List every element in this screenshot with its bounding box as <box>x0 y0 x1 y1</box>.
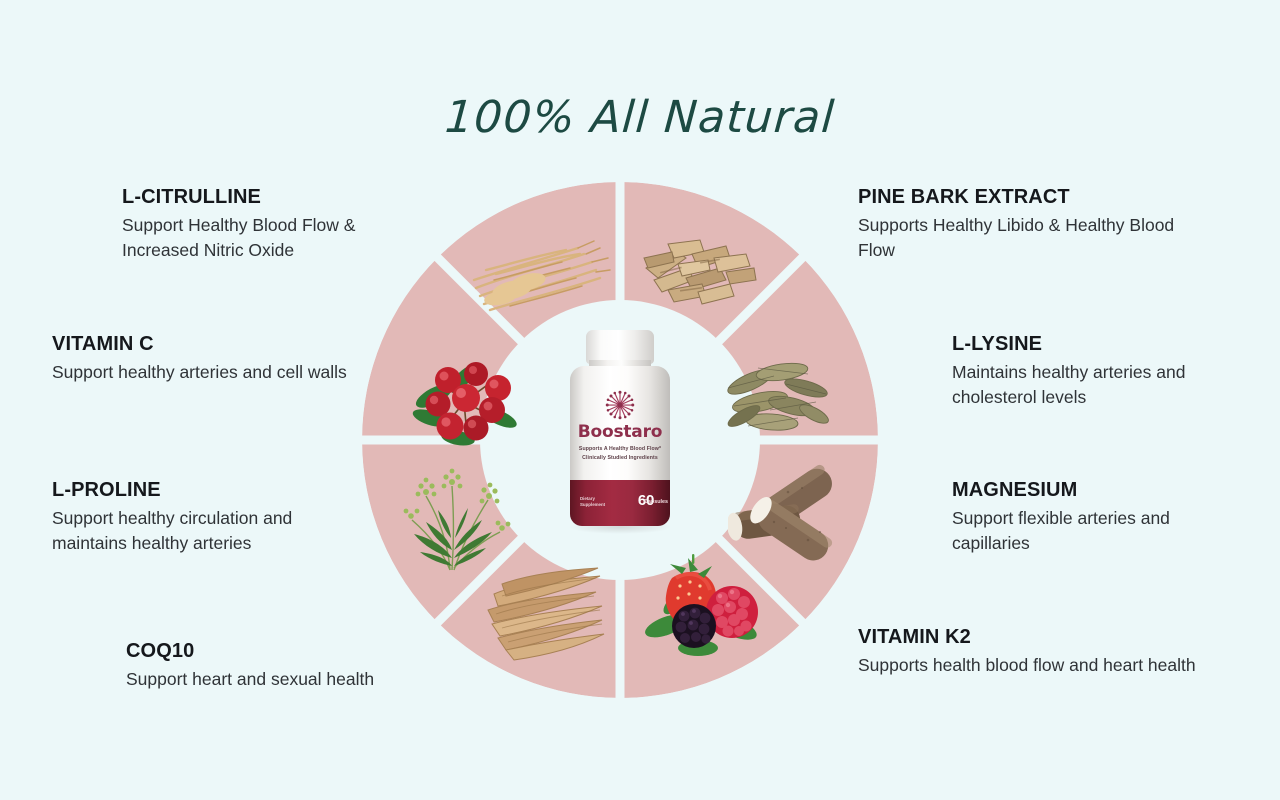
ingredient-description: Maintains healthy arteries and cholester… <box>952 360 1252 410</box>
infographic-canvas: 100% All Natural <box>0 0 1280 800</box>
bottle-label-band: Dietary Supplement 60 Capsules <box>570 480 670 526</box>
ingredient-title: COQ10 <box>126 640 456 662</box>
page-title: 100% All Natural <box>0 92 1280 143</box>
bottle-brand-name: Boostaro <box>570 422 670 442</box>
ingredient-title: VITAMIN C <box>52 333 352 355</box>
bottle-supplement-label-line2: Supplement <box>580 502 605 508</box>
ingredient-description: Supports health blood flow and heart hea… <box>858 653 1208 678</box>
ingredient-description: Support flexible arteries and capillarie… <box>952 506 1242 556</box>
ingredient-description: Support Healthy Blood Flow & Increased N… <box>122 213 432 263</box>
ingredient-block-l-lysine: L-LYSINE Maintains healthy arteries and … <box>952 333 1252 410</box>
ingredient-block-coq10: COQ10 Support heart and sexual health <box>126 640 456 692</box>
ingredient-title: PINE BARK EXTRACT <box>858 186 1188 208</box>
bottle-capsule-unit: Capsules <box>644 499 668 505</box>
ingredient-description: Supports Healthy Libido & Healthy Blood … <box>858 213 1188 263</box>
bottle-cap <box>586 330 654 364</box>
ingredient-description: Support healthy circulation and maintain… <box>52 506 362 556</box>
bottle-supplement-label: Dietary Supplement <box>580 496 605 508</box>
ingredient-description: Support heart and sexual health <box>126 667 456 692</box>
ingredient-title: L-CITRULLINE <box>122 186 432 208</box>
bottle-tagline-2: Clinically Studied Ingredients <box>570 455 670 461</box>
bottle-body: Boostaro Supports A Healthy Blood Flow* … <box>570 366 670 526</box>
ingredient-title: VITAMIN K2 <box>858 626 1208 648</box>
ingredient-description: Support healthy arteries and cell walls <box>52 360 352 385</box>
boostaro-logo-icon <box>605 390 635 420</box>
ingredient-title: MAGNESIUM <box>952 479 1242 501</box>
bottle-tagline-1: Supports A Healthy Blood Flow* <box>570 446 670 452</box>
ingredient-block-vitamin-c: VITAMIN C Support healthy arteries and c… <box>52 333 352 385</box>
ingredient-block-l-proline: L-PROLINE Support healthy circulation an… <box>52 479 362 556</box>
ingredient-block-magnesium: MAGNESIUM Support flexible arteries and … <box>952 479 1242 556</box>
ingredient-block-vitamin-k2: VITAMIN K2 Supports health blood flow an… <box>858 626 1208 678</box>
ingredient-title: L-PROLINE <box>52 479 362 501</box>
ingredient-block-pine-bark-extract: PINE BARK EXTRACT Supports Healthy Libid… <box>858 186 1188 263</box>
product-bottle: Boostaro Supports A Healthy Blood Flow* … <box>562 330 678 526</box>
ingredient-block-l-citrulline: L-CITRULLINE Support Healthy Blood Flow … <box>122 186 432 263</box>
ingredient-title: L-LYSINE <box>952 333 1252 355</box>
